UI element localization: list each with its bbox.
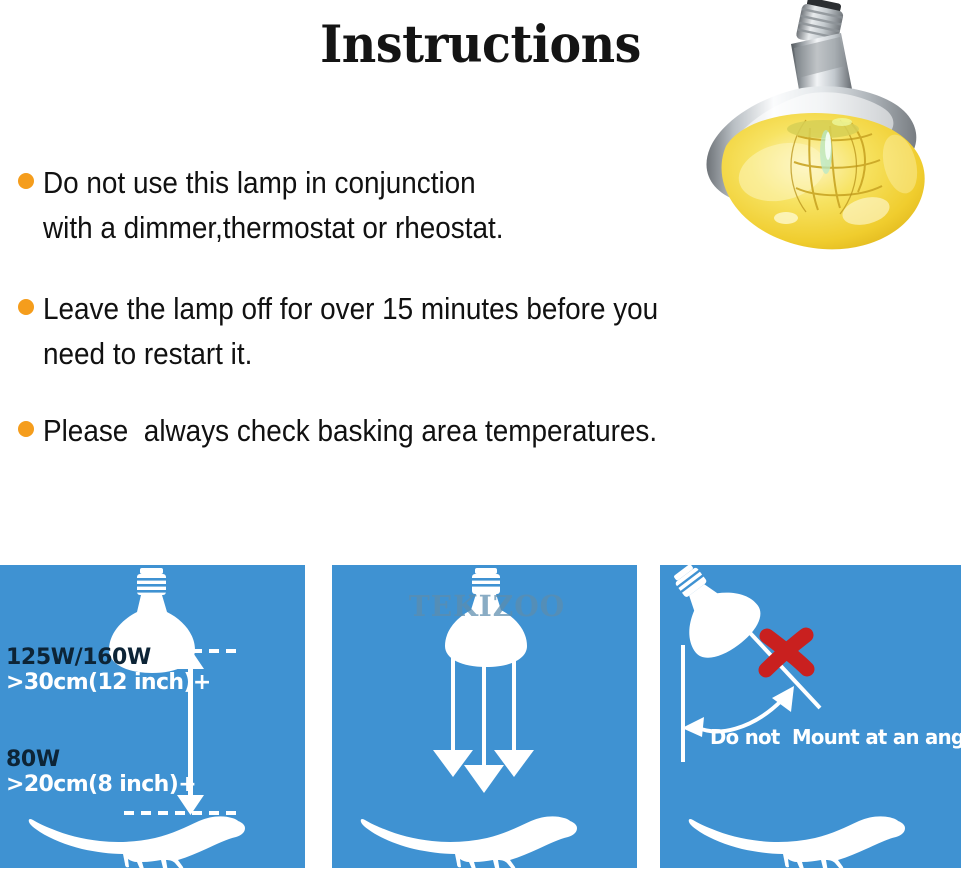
list-item: Leave the lamp off for over 15 minutes b…	[18, 286, 948, 376]
instruction-text: Please always check basking area tempera…	[43, 408, 657, 453]
tilted-bulb-silhouette-icon	[660, 565, 770, 668]
diagram-panel-row: 125W/160W >30cm(12 inch)+ 80W >20cm(8 in…	[0, 565, 961, 870]
list-item: Please always check basking area tempera…	[18, 408, 948, 453]
panel-mounting-distance: 125W/160W >30cm(12 inch)+ 80W >20cm(8 in…	[0, 565, 305, 868]
lizard-silhouette-icon	[689, 816, 905, 868]
wattage-label: 125W/160W	[6, 646, 211, 670]
brand-watermark: TEKIZOO	[395, 589, 579, 623]
orange-dot-icon	[18, 299, 34, 315]
instruction-text: Leave the lamp off for over 15 minutes b…	[43, 286, 658, 376]
panel-no-angle-mounting: Do not Mount at an angle	[660, 565, 961, 868]
wattage-label: 80W	[6, 748, 196, 772]
lizard-silhouette-icon	[29, 816, 245, 868]
instruction-text: Do not use this lamp in conjunction with…	[43, 160, 504, 250]
spec-group-low-wattage: 80W >20cm(8 inch)+	[6, 748, 196, 797]
lizard-silhouette-icon	[361, 816, 577, 868]
red-x-cross-icon	[766, 635, 807, 670]
orange-dot-icon	[18, 173, 34, 189]
panel-heat-projection: TEKIZOO	[332, 565, 637, 868]
downward-heat-arrow-icon	[464, 653, 504, 793]
list-item: Do not use this lamp in conjunction with…	[18, 160, 948, 250]
instructions-list: Do not use this lamp in conjunction with…	[18, 160, 948, 479]
distance-label: >20cm(8 inch)+	[6, 772, 196, 797]
spec-group-high-wattage: 125W/160W >30cm(12 inch)+	[6, 646, 211, 695]
distance-label: >30cm(12 inch)+	[6, 670, 211, 695]
angle-warning-caption: Do not Mount at an angle	[710, 725, 961, 749]
page-title: Instructions	[34, 16, 928, 74]
orange-dot-icon	[18, 421, 34, 437]
